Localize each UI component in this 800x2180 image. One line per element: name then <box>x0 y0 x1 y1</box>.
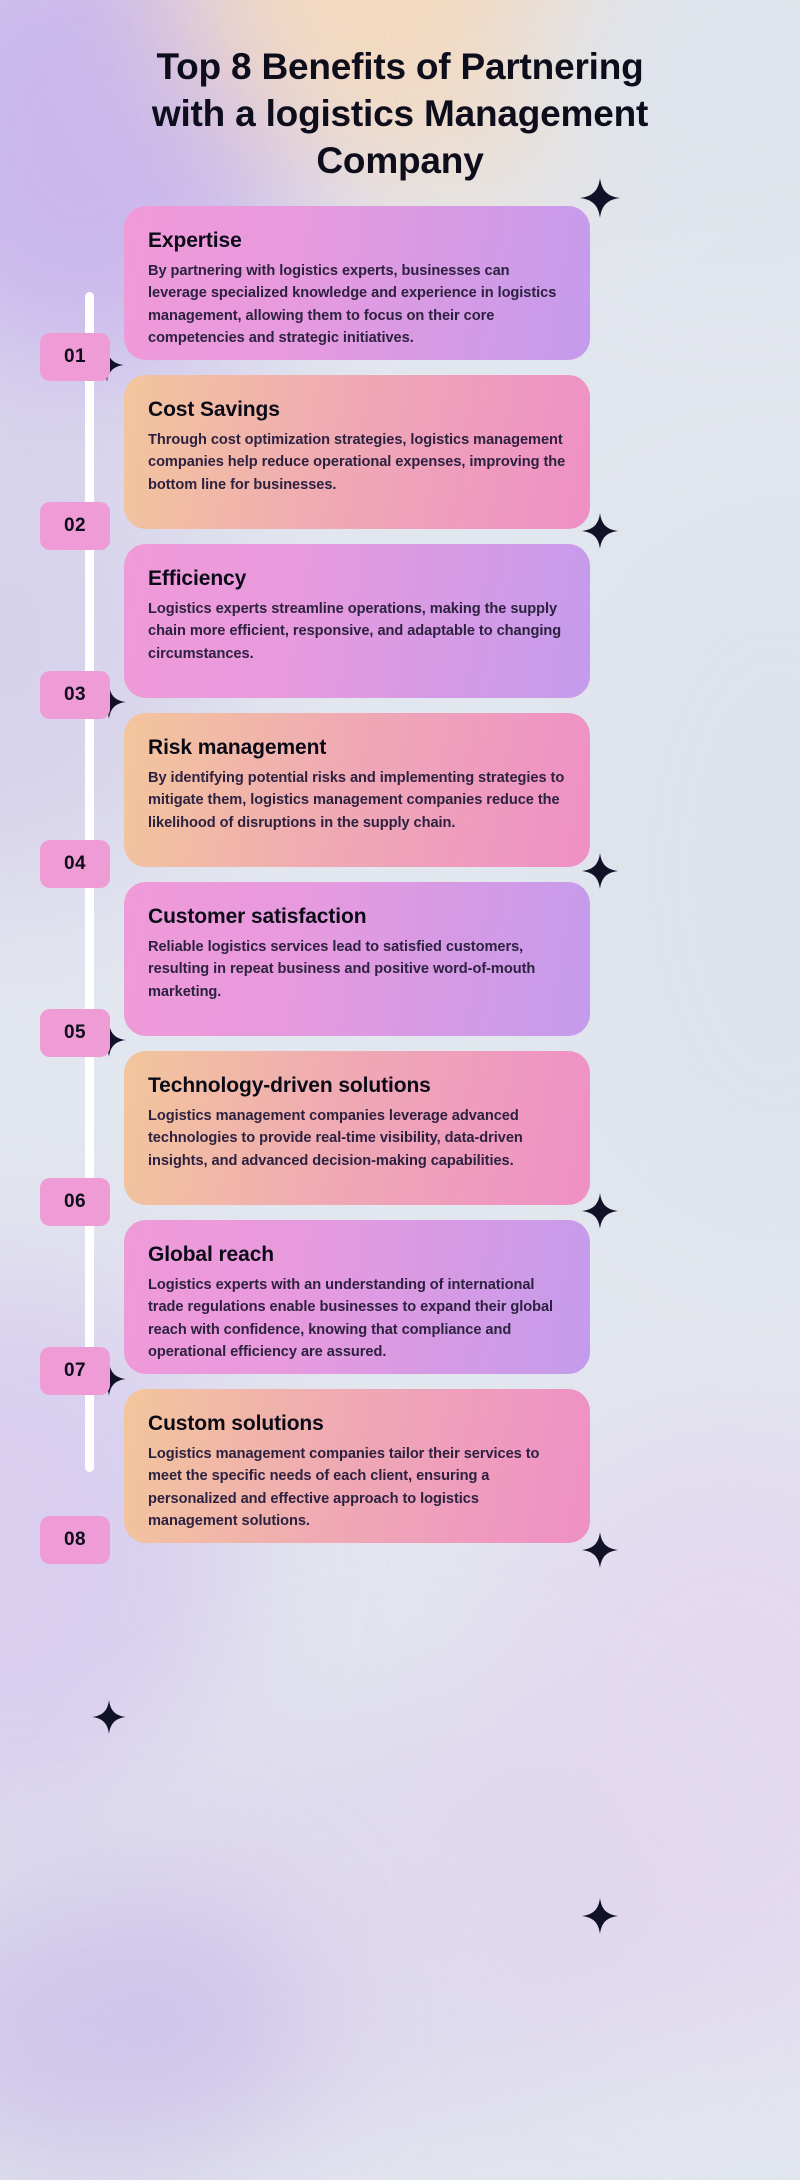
timeline-badge-04[interactable]: 04 <box>40 840 110 888</box>
benefit-card-title: Technology-driven solutions <box>148 1073 566 1098</box>
sparkle-icon <box>580 178 620 218</box>
timeline-badge-05[interactable]: 05 <box>40 1009 110 1057</box>
page-title-line-2: with a logistics Management <box>60 91 740 138</box>
timeline-badge-01[interactable]: 01 <box>40 333 110 381</box>
timeline-badge-06[interactable]: 06 <box>40 1178 110 1226</box>
benefit-card-04[interactable]: Risk management By identifying potential… <box>124 713 590 867</box>
benefit-card-title: Cost Savings <box>148 397 566 422</box>
timeline-badge-label: 06 <box>64 1191 86 1213</box>
benefit-card-body: By partnering with logistics experts, bu… <box>148 260 566 349</box>
timeline-badge-label: 03 <box>64 684 86 706</box>
sparkle-icon <box>582 1532 618 1568</box>
timeline-badge-label: 01 <box>64 346 86 368</box>
benefit-card-01[interactable]: Expertise By partnering with logistics e… <box>124 206 590 360</box>
timeline-badge-08[interactable]: 08 <box>40 1516 110 1564</box>
sparkle-icon <box>92 1700 126 1734</box>
benefit-card-03[interactable]: Efficiency Logistics experts streamline … <box>124 544 590 698</box>
benefit-card-05[interactable]: Customer satisfaction Reliable logistics… <box>124 882 590 1036</box>
benefit-card-title: Expertise <box>148 228 566 253</box>
benefit-card-06[interactable]: Technology-driven solutions Logistics ma… <box>124 1051 590 1205</box>
benefit-card-body: By identifying potential risks and imple… <box>148 767 566 834</box>
benefit-card-body: Logistics management companies tailor th… <box>148 1443 566 1532</box>
benefit-card-title: Custom solutions <box>148 1411 566 1436</box>
page-title-line-1: Top 8 Benefits of Partnering <box>60 44 740 91</box>
sparkle-icon <box>582 1193 618 1229</box>
page-title-line-3: Company <box>60 138 740 185</box>
benefit-card-body: Logistics experts streamline operations,… <box>148 598 566 665</box>
benefit-card-body: Through cost optimization strategies, lo… <box>148 429 566 496</box>
benefit-card-02[interactable]: Cost Savings Through cost optimization s… <box>124 375 590 529</box>
timeline-badge-02[interactable]: 02 <box>40 502 110 550</box>
infographic-page: Top 8 Benefits of Partnering with a logi… <box>0 0 800 2000</box>
benefit-card-title: Global reach <box>148 1242 566 1267</box>
benefit-card-title: Risk management <box>148 735 566 760</box>
benefit-card-body: Logistics management companies leverage … <box>148 1105 566 1172</box>
sparkle-icon <box>582 513 618 549</box>
timeline-badge-label: 04 <box>64 853 86 875</box>
benefit-card-title: Customer satisfaction <box>148 904 566 929</box>
page-title: Top 8 Benefits of Partnering with a logi… <box>60 44 740 185</box>
timeline-badge-label: 07 <box>64 1360 86 1382</box>
timeline-badge-label: 02 <box>64 515 86 537</box>
timeline-badge-label: 08 <box>64 1529 86 1551</box>
timeline-badge-07[interactable]: 07 <box>40 1347 110 1395</box>
timeline-badge-label: 05 <box>64 1022 86 1044</box>
benefit-card-body: Logistics experts with an understanding … <box>148 1274 566 1363</box>
benefit-card-07[interactable]: Global reach Logistics experts with an u… <box>124 1220 590 1374</box>
benefit-card-body: Reliable logistics services lead to sati… <box>148 936 566 1003</box>
sparkle-icon <box>582 1898 618 1934</box>
sparkle-icon <box>582 853 618 889</box>
benefit-card-title: Efficiency <box>148 566 566 591</box>
benefit-card-08[interactable]: Custom solutions Logistics management co… <box>124 1389 590 1543</box>
timeline-badge-03[interactable]: 03 <box>40 671 110 719</box>
